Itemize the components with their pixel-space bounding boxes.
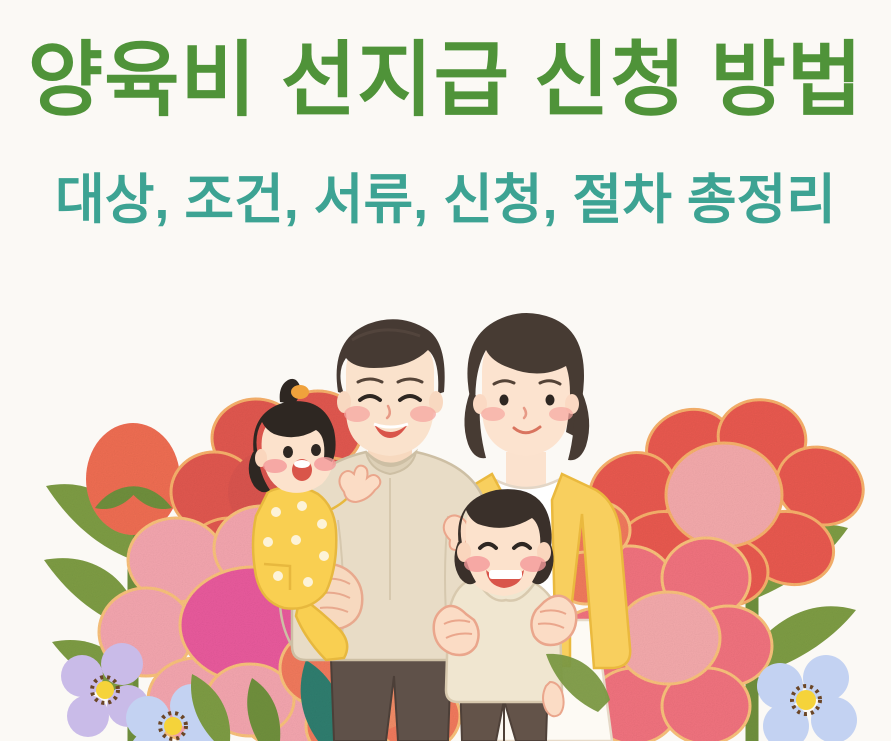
boy-hand-lower: [543, 682, 564, 716]
family-with-flowers-illustration: [0, 0, 891, 741]
poster-root: 양육비 선지급 신청 방법 대상, 조건, 서류, 신청, 절차 총정리: [0, 0, 891, 741]
